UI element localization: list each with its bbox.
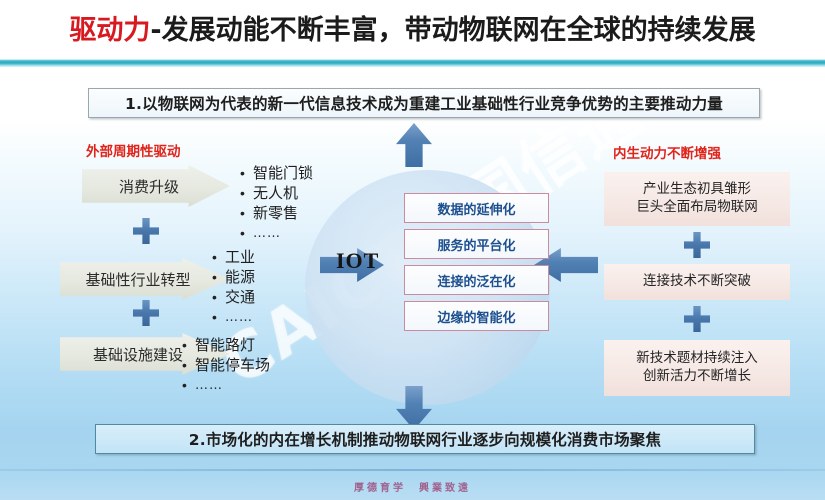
plus-icon-right-1 xyxy=(684,232,710,258)
iot-capability-box-2: 服务的平台化 xyxy=(404,229,549,259)
left-driver-chip-1: 消费升级 xyxy=(82,165,230,207)
banner-statement-1-text: 1.以物联网为代表的新一代信息技术成为重建工业基础性行业竞争优势的主要推动力量 xyxy=(125,92,723,114)
slide-canvas: CAICT中国信通院 驱动力-发展动能不断丰富，带动物联网在全球的持续发展 1.… xyxy=(0,0,825,500)
left-section-header: 外部周期性驱动 xyxy=(86,140,181,160)
left-driver-chip-2-label: 基础性行业转型 xyxy=(85,269,190,290)
right-driver-panel-3-line-1: 新技术题材持续注入 xyxy=(636,350,758,368)
iot-capability-box-4-label: 边缘的智能化 xyxy=(437,307,515,326)
list-item: •…… xyxy=(212,308,255,327)
iot-core-label: IOT xyxy=(336,248,379,274)
bullet-icon: • xyxy=(212,288,225,307)
list-item-label: 交通 xyxy=(225,288,255,307)
bullet-icon: • xyxy=(182,336,195,355)
bullet-icon: • xyxy=(240,224,253,243)
iot-capability-list: 数据的延伸化 服务的平台化 连接的泛在化 边缘的智能化 xyxy=(404,193,549,337)
title-rest: -发展动能不断丰富，带动物联网在全球的持续发展 xyxy=(150,15,755,46)
bullet-icon: • xyxy=(212,248,225,267)
list-item: •交通 xyxy=(212,288,255,307)
list-item: •无人机 xyxy=(240,184,313,203)
list-item: •新零售 xyxy=(240,204,313,223)
list-item-label: …… xyxy=(225,308,253,327)
iot-capability-box-1-label: 数据的延伸化 xyxy=(437,199,515,218)
list-item-label: 智能路灯 xyxy=(195,336,255,355)
list-item: •工业 xyxy=(212,248,255,267)
bullet-icon: • xyxy=(212,308,225,327)
list-item-label: 新零售 xyxy=(253,204,298,223)
plus-icon-left-1 xyxy=(133,218,159,244)
right-driver-panel-3: 新技术题材持续注入 创新活力不断增长 xyxy=(604,340,790,396)
footer-slogan: 厚德育学 興業致遠 xyxy=(0,478,825,496)
iot-capability-box-2-label: 服务的平台化 xyxy=(437,235,515,254)
bullet-icon: • xyxy=(240,184,253,203)
bullet-icon: • xyxy=(182,376,195,395)
banner-statement-1: 1.以物联网为代表的新一代信息技术成为重建工业基础性行业竞争优势的主要推动力量 xyxy=(88,88,760,118)
list-item-label: 能源 xyxy=(225,268,255,287)
bullet-icon: • xyxy=(240,164,253,183)
banner-statement-2: 2.市场化的内在增长机制推动物联网行业逐步向规模化消费市场聚焦 xyxy=(95,424,755,454)
banner-statement-2-text: 2.市场化的内在增长机制推动物联网行业逐步向规模化消费市场聚焦 xyxy=(189,428,661,450)
footer-slogan-text: 厚德育学 興業致遠 xyxy=(354,483,471,494)
right-driver-panel-2: 连接技术不断突破 xyxy=(604,264,790,300)
left-driver-chip-1-label: 消费升级 xyxy=(119,176,179,197)
left-driver-chip-3-label: 基础设施建设 xyxy=(93,344,183,365)
list-item: •能源 xyxy=(212,268,255,287)
bullet-icon: • xyxy=(182,356,195,375)
right-driver-panel-3-line-2: 创新活力不断增长 xyxy=(643,368,751,386)
title-highlight: 驱动力 xyxy=(69,15,150,46)
list-item-label: 智能门锁 xyxy=(253,164,313,183)
iot-capability-box-1: 数据的延伸化 xyxy=(404,193,549,223)
right-section-header: 内生动力不断增强 xyxy=(613,142,721,162)
plus-icon-right-2 xyxy=(684,306,710,332)
iot-capability-box-3-label: 连接的泛在化 xyxy=(437,271,515,290)
iot-capability-box-4: 边缘的智能化 xyxy=(404,301,549,331)
plus-icon-left-2 xyxy=(133,300,159,326)
right-driver-panel-2-line-1: 连接技术不断突破 xyxy=(643,273,751,291)
left-example-list-3: •智能路灯 •智能停车场 •…… xyxy=(182,336,270,396)
list-item: •…… xyxy=(182,376,270,395)
list-item-label: 工业 xyxy=(225,248,255,267)
list-item: •智能门锁 xyxy=(240,164,313,183)
bullet-icon: • xyxy=(240,204,253,223)
iot-capability-box-3: 连接的泛在化 xyxy=(404,265,549,295)
arrow-up-icon xyxy=(396,123,432,167)
right-driver-panel-1-line-2: 巨头全面布局物联网 xyxy=(636,199,758,217)
page-title: 驱动力-发展动能不断丰富，带动物联网在全球的持续发展 xyxy=(0,8,825,56)
bullet-icon: • xyxy=(212,268,225,287)
left-example-list-2: •工业 •能源 •交通 •…… xyxy=(212,248,255,328)
footer-divider-rule xyxy=(0,469,825,471)
list-item: •智能路灯 xyxy=(182,336,270,355)
list-item: •…… xyxy=(240,224,313,243)
right-driver-panel-1-line-1: 产业生态初具雏形 xyxy=(643,181,751,199)
left-example-list-1: •智能门锁 •无人机 •新零售 •…… xyxy=(240,164,313,244)
left-driver-chip-2: 基础性行业转型 xyxy=(60,258,230,300)
list-item-label: 智能停车场 xyxy=(195,356,270,375)
title-divider-rule xyxy=(0,59,825,67)
list-item-label: …… xyxy=(195,376,223,395)
right-driver-panel-1: 产业生态初具雏形 巨头全面布局物联网 xyxy=(604,172,790,226)
list-item-label: 无人机 xyxy=(253,184,298,203)
list-item-label: …… xyxy=(253,224,281,243)
list-item: •智能停车场 xyxy=(182,356,270,375)
